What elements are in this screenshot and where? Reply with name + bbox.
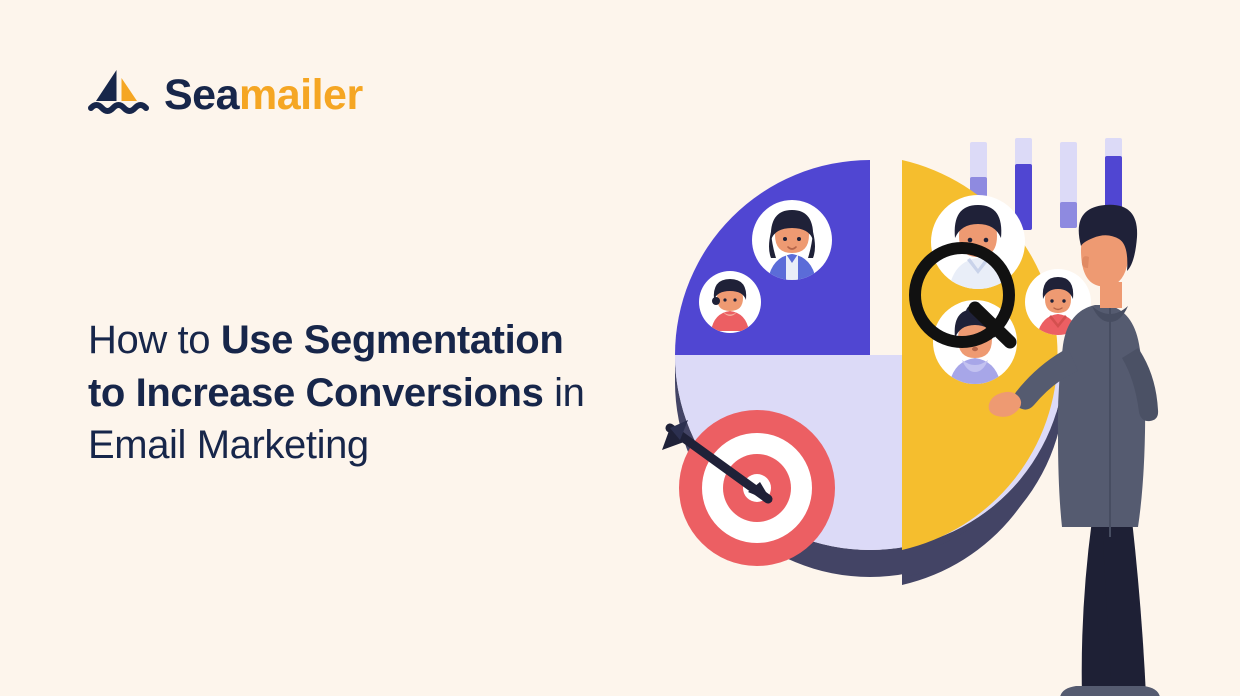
headline-line2-regular: in (543, 371, 584, 415)
headline-line3-regular: Email Marketing (88, 423, 369, 467)
headline-line1-regular: How to (88, 318, 221, 362)
avatar-girl-red-top (699, 271, 761, 333)
seamailer-logo[interactable]: Seamailer (88, 68, 363, 122)
logo-word-sea: Sea (164, 71, 239, 119)
page-title: How to Use Segmentationto Increase Conve… (88, 314, 648, 472)
headline-line1-bold: Use Segmentation (221, 318, 564, 362)
email-marketing-banner: Seamailer How to Use Segmentationto Incr… (0, 0, 1240, 696)
avatar-woman-blue-jacket (752, 200, 832, 280)
sailboat-icon (88, 68, 150, 122)
logo-wordmark: Seamailer (164, 74, 363, 117)
headline-line2-bold: to Increase Conversions (88, 371, 543, 415)
logo-word-mailer: mailer (239, 71, 363, 119)
segmentation-pie-chart-illustration (640, 120, 1240, 696)
